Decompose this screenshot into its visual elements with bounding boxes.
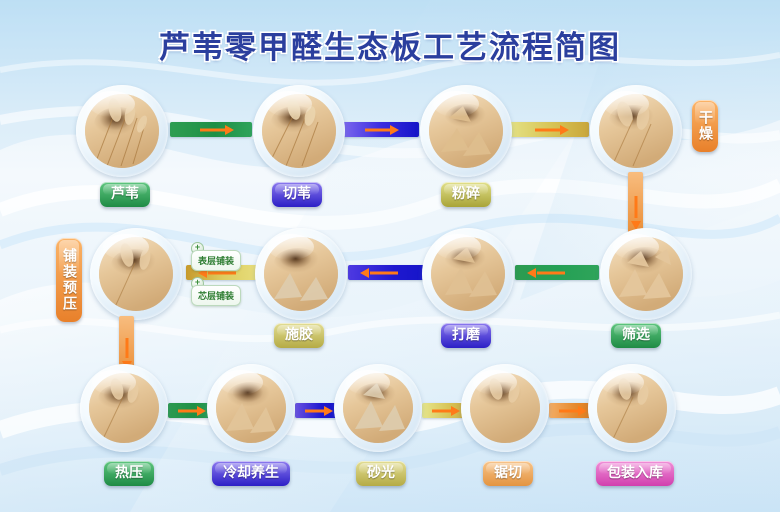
- label-text: 施胶: [285, 327, 313, 343]
- label-dry[interactable]: 干燥: [692, 100, 718, 152]
- label-text: 冷却养生: [223, 465, 279, 481]
- reed-photo-icon: [99, 237, 173, 311]
- label-cut-reed[interactable]: 切苇: [272, 182, 322, 207]
- process-node-reed[interactable]: [76, 85, 168, 177]
- label-polishing[interactable]: 砂光: [356, 461, 406, 486]
- reed-photo-icon: [89, 373, 159, 443]
- label-text: 打磨: [452, 327, 480, 343]
- sublabel-text: 芯层铺装: [198, 292, 234, 302]
- page-title: 芦苇零甲醛生态板工艺流程简图: [0, 22, 780, 67]
- label-laying-prepress[interactable]: 铺装预压: [56, 238, 82, 322]
- label-text: 粉碎: [452, 186, 480, 202]
- process-node-sawing[interactable]: [461, 364, 549, 452]
- process-node-screening[interactable]: [600, 228, 692, 320]
- process-node-laying-prepress[interactable]: [90, 228, 182, 320]
- process-node-cut-reed[interactable]: [253, 85, 345, 177]
- reed-photo-icon: [85, 94, 159, 168]
- label-text: 干燥: [697, 110, 713, 142]
- reed-photo-icon: [429, 94, 503, 168]
- reed-photo-icon: [609, 237, 683, 311]
- connector-row2-2: [348, 265, 432, 280]
- connector-row2-3: [515, 265, 599, 280]
- connector-row1-3: [503, 122, 589, 137]
- process-node-cooling-curing[interactable]: [207, 364, 295, 452]
- label-hot-press[interactable]: 热压: [104, 461, 154, 486]
- label-text: 锯切: [494, 465, 522, 481]
- reed-photo-icon: [262, 94, 336, 168]
- label-text: 热压: [115, 465, 143, 481]
- sublabel-surface-layer[interactable]: 表层铺装: [191, 250, 241, 271]
- reed-photo-icon: [264, 237, 338, 311]
- sublabel-text: 表层铺装: [198, 257, 234, 267]
- reed-photo-icon: [597, 373, 667, 443]
- label-sanding[interactable]: 打磨: [441, 323, 491, 348]
- label-sawing[interactable]: 锯切: [483, 461, 533, 486]
- label-packing-warehouse[interactable]: 包装入库: [596, 461, 674, 486]
- process-node-gluing[interactable]: [255, 228, 347, 320]
- label-gluing[interactable]: 施胶: [274, 323, 324, 348]
- reed-photo-icon: [431, 237, 505, 311]
- label-text: 芦苇: [111, 186, 139, 202]
- label-text: 砂光: [367, 465, 395, 481]
- label-text: 铺装预压: [61, 248, 77, 312]
- poster-canvas: 芦苇零甲醛生态板工艺流程简图: [0, 0, 780, 512]
- connector-row1-2: [335, 122, 419, 137]
- label-text: 包装入库: [607, 465, 663, 481]
- label-reed[interactable]: 芦苇: [100, 182, 150, 207]
- connector-row1-1: [170, 122, 252, 137]
- label-text: 切苇: [283, 186, 311, 202]
- process-node-sanding[interactable]: [422, 228, 514, 320]
- label-crush[interactable]: 粉碎: [441, 182, 491, 207]
- reed-photo-icon: [216, 373, 286, 443]
- process-node-crush[interactable]: [420, 85, 512, 177]
- process-node-packing-warehouse[interactable]: [588, 364, 676, 452]
- label-text: 筛选: [622, 327, 650, 343]
- label-screening[interactable]: 筛选: [611, 323, 661, 348]
- reed-photo-icon: [599, 94, 673, 168]
- reed-photo-icon: [470, 373, 540, 443]
- process-node-hot-press[interactable]: [80, 364, 168, 452]
- label-cooling-curing[interactable]: 冷却养生: [212, 461, 290, 486]
- process-node-polishing[interactable]: [334, 364, 422, 452]
- reed-photo-icon: [343, 373, 413, 443]
- process-node-dry[interactable]: [590, 85, 682, 177]
- sublabel-core-layer[interactable]: 芯层铺装: [191, 285, 241, 306]
